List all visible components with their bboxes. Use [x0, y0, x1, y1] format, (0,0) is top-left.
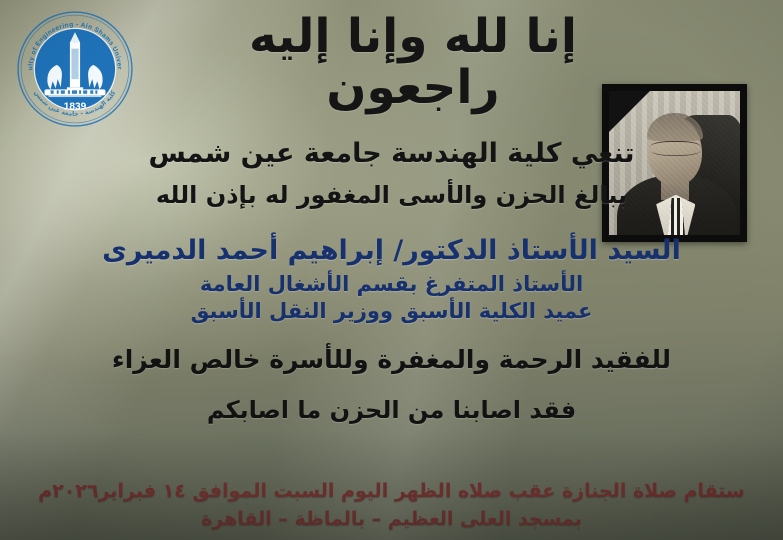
funeral-location-line: بمسجد العلى العظيم – بالماظة – القاهرة [0, 508, 783, 530]
mourning-line-2: ببالغ الحزن والأسى المغفور له بإذن الله [0, 181, 783, 209]
quranic-calligraphy: إنا لله وإنا إليه راجعون [213, 12, 613, 114]
deceased-name: السيد الأستاذ الدكتور/ إبراهيم أحمد الدم… [0, 235, 783, 266]
mourning-ribbon-icon [609, 91, 653, 135]
university-seal-logo: 1839 Faculty of Engineering - Ain Shams … [14, 8, 136, 130]
mourning-line-1: تنعي كلية الهندسة جامعة عين شمس [0, 138, 783, 169]
condolence-line: للفقيد الرحمة والمغفرة وللأسرة خالص العز… [0, 345, 783, 374]
sorrow-line: فقد اصابنا من الحزن ما اصابكم [0, 396, 783, 424]
obituary-poster: 1839 Faculty of Engineering - Ain Shams … [0, 0, 783, 540]
announcement-body: تنعي كلية الهندسة جامعة عين شمس ببالغ ال… [0, 138, 783, 452]
deceased-title-line-1: الأستاذ المتفرغ بقسم الأشغال العامة [0, 272, 783, 296]
funeral-details: ستقام صلاة الجنازة عقب صلاه الظهر اليوم … [0, 480, 783, 530]
funeral-time-line: ستقام صلاة الجنازة عقب صلاه الظهر اليوم … [0, 480, 783, 502]
deceased-title-line-2: عميد الكلية الأسبق ووزير النقل الأسبق [0, 299, 783, 323]
